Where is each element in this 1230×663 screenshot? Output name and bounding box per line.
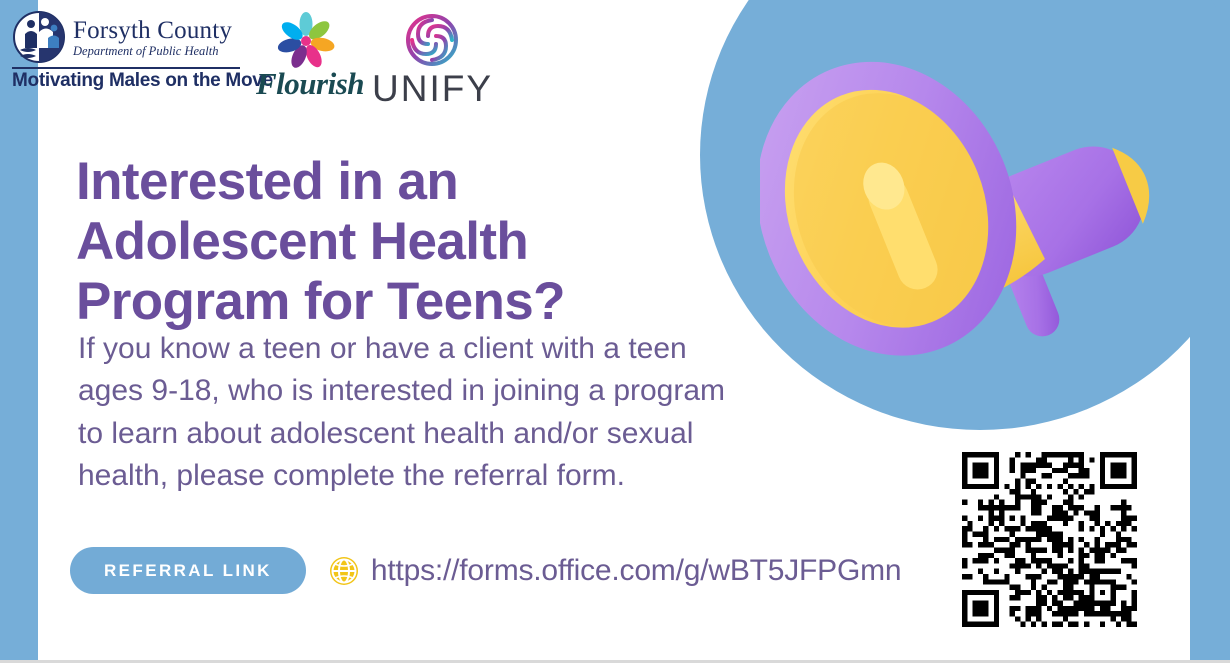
page-title: Interested in an Adolescent Health Progr… [76, 152, 696, 333]
qr-code-image [962, 452, 1137, 627]
unify-logo: UNIFY [372, 10, 492, 107]
flourish-wordmark: Flourish [256, 68, 356, 99]
people-in-circle-seal-icon [12, 10, 66, 64]
globe-icon [328, 555, 360, 587]
referral-link-button[interactable]: REFERRAL LINK [70, 547, 306, 594]
qr-code[interactable] [962, 452, 1137, 627]
unify-wordmark: UNIFY [372, 70, 492, 107]
flourish-pinwheel-people-icon [275, 10, 337, 72]
flyer-canvas: Forsyth County Department of Public Heal… [0, 0, 1230, 663]
forsyth-county-logo: Forsyth County Department of Public Heal… [12, 10, 240, 91]
logo-row: Forsyth County Department of Public Heal… [12, 10, 492, 107]
forsyth-tagline: Motivating Males on the Move [12, 71, 240, 91]
referral-url-link[interactable]: https://forms.office.com/g/wBT5JFPGmn [371, 554, 902, 588]
body-text: If you know a teen or have a client with… [78, 328, 738, 497]
flourish-logo: Flourish [256, 10, 356, 99]
forsyth-county-name: Forsyth County [73, 18, 232, 43]
unify-circular-knot-icon [404, 12, 460, 68]
call-to-action-row: REFERRAL LINK https://forms.office.com/g… [70, 547, 901, 594]
logo-divider [12, 67, 240, 69]
forsyth-department: Department of Public Health [73, 45, 232, 59]
